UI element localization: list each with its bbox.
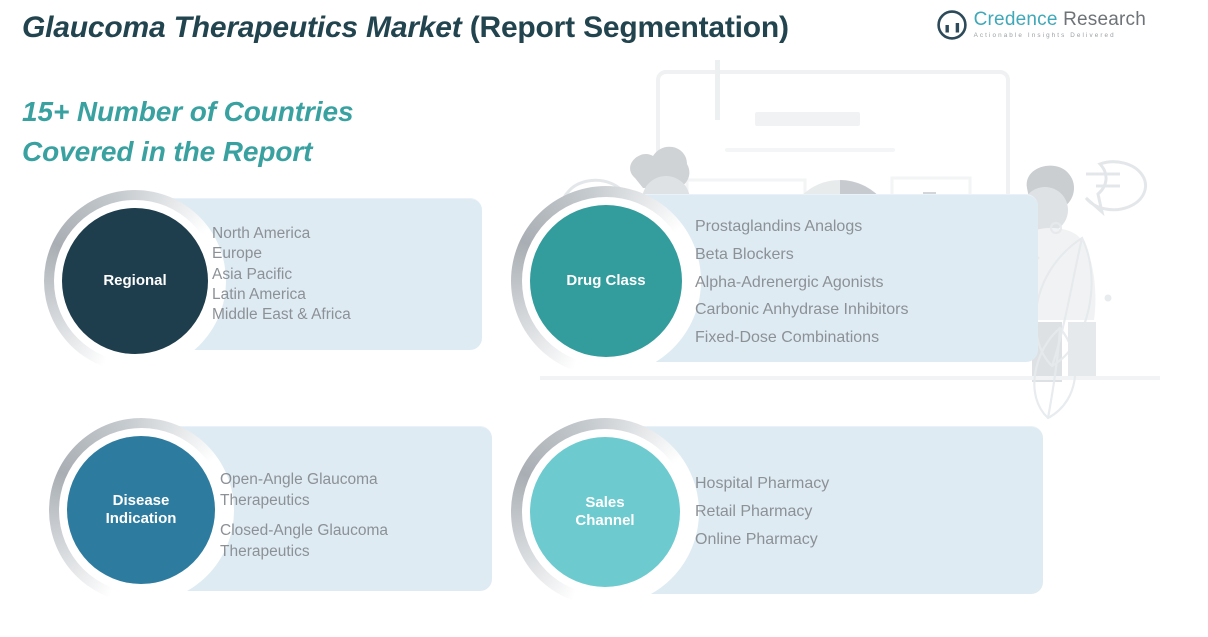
list-item: Alpha-Adrenergic Agonists <box>695 269 908 297</box>
segment-card-sales-channel[interactable]: Sales Channel Hospital Pharmacy Retail P… <box>498 418 1043 608</box>
logo-text: Credence Research Actionable Insights De… <box>974 10 1146 39</box>
segment-items-drug-class: Prostaglandins Analogs Beta Blockers Alp… <box>695 213 908 352</box>
list-item: Beta Blockers <box>695 241 908 269</box>
logo-wordmark: Credence Research <box>974 10 1146 29</box>
segment-card-drug-class[interactable]: Drug Class Prostaglandins Analogs Beta B… <box>498 186 1038 376</box>
list-item: Carbonic Anhydrase Inhibitors <box>695 296 908 324</box>
logo-tagline: Actionable Insights Delivered <box>974 33 1146 39</box>
leaf-decoration <box>1020 220 1208 460</box>
segment-bubble-regional[interactable]: Regional <box>62 208 208 354</box>
list-item: Fixed-Dose Combinations <box>695 324 908 352</box>
segment-card-disease-indication[interactable]: Disease Indication Open-Angle Glaucoma T… <box>22 418 492 608</box>
segment-items-disease-indication: Open-Angle Glaucoma Therapeutics Closed-… <box>220 470 388 562</box>
credence-research-logo[interactable]: Credence Research Actionable Insights De… <box>937 10 1146 40</box>
list-item: Open-Angle Glaucoma Therapeutics <box>220 470 388 511</box>
page-title: Glaucoma Therapeutics Market (Report Seg… <box>22 11 789 45</box>
header: Glaucoma Therapeutics Market (Report Seg… <box>0 0 1208 62</box>
segment-items-regional: North America Europe Asia Pacific Latin … <box>212 224 351 325</box>
list-item: Asia Pacific <box>212 265 351 285</box>
segment-card-regional[interactable]: Regional North America Europe Asia Pacif… <box>22 190 482 370</box>
page-title-sub: (Report Segmentation) <box>470 11 789 44</box>
list-item: North America <box>212 224 351 244</box>
list-item: Prostaglandins Analogs <box>695 213 908 241</box>
segment-items-sales-channel: Hospital Pharmacy Retail Pharmacy Online… <box>695 470 829 554</box>
page-title-main: Glaucoma Therapeutics Market <box>22 11 470 44</box>
segment-bubble-disease-indication[interactable]: Disease Indication <box>67 436 215 584</box>
logo-word-research: Research <box>1058 9 1146 30</box>
logo-word-credence: Credence <box>974 9 1058 30</box>
segment-bubble-drug-class[interactable]: Drug Class <box>530 205 682 357</box>
list-item: Latin America <box>212 285 351 305</box>
list-item: Closed-Angle Glaucoma Therapeutics <box>220 521 388 562</box>
list-item: Retail Pharmacy <box>695 498 829 526</box>
segment-bubble-sales-channel[interactable]: Sales Channel <box>530 437 680 587</box>
list-item: Hospital Pharmacy <box>695 470 829 498</box>
countries-covered-heading: 15+ Number of Countries Covered in the R… <box>22 92 452 172</box>
bar-chart-circle-icon <box>937 10 967 40</box>
list-item: Online Pharmacy <box>695 526 829 554</box>
list-item: Middle East & Africa <box>212 305 351 325</box>
list-item: Europe <box>212 244 351 264</box>
